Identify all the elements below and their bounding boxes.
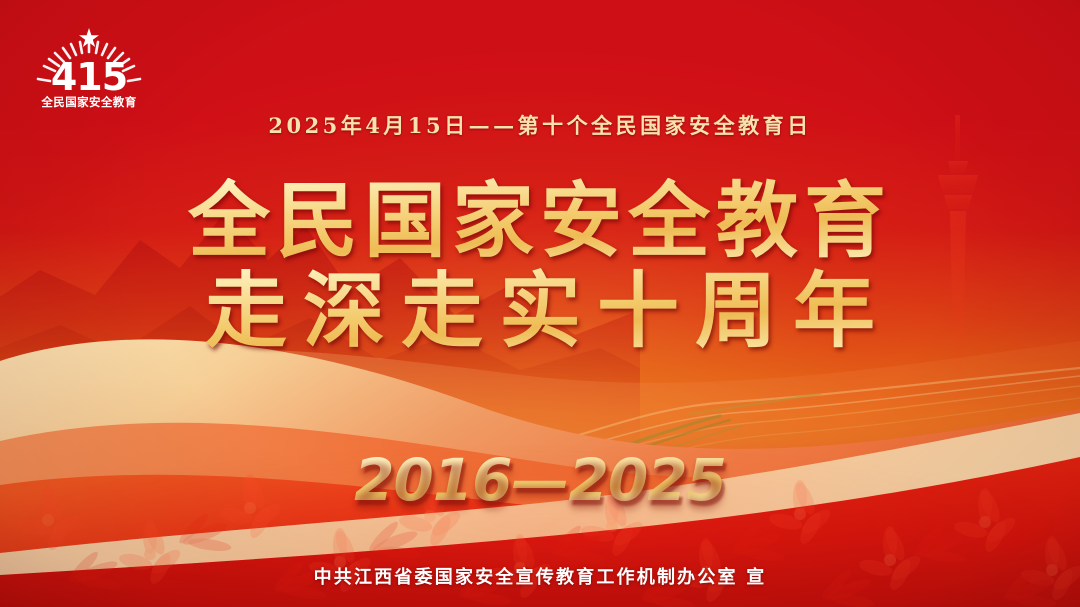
main-title-line-2: 走深走实十周年 [0, 268, 1080, 356]
main-title: 全民国家安全教育 走深走实十周年 [0, 178, 1080, 355]
year-range-text: 2016—2025 [354, 446, 726, 514]
national-security-education-day-415-logo[interactable]: 415 全民国家安全教育 [24, 22, 154, 110]
logo-numerals-415: 415 [51, 55, 127, 99]
year-range-block: 2016—2025 [0, 446, 1080, 514]
main-title-line-1: 全民国家安全教育 [0, 178, 1080, 266]
issuing-authority-footer: 中共江西省委国家安全宣传教育工作机制办公室 宣 [0, 563, 1080, 589]
svg-text:全民国家安全教育: 全民国家安全教育 [40, 95, 136, 109]
poster-canvas: 415 全民国家安全教育 2025年4月15日——第十个全民国家安全教育日 全民… [0, 0, 1080, 607]
logo-caption: 全民国家安全教育 [40, 95, 136, 109]
event-subtitle: 2025年4月15日——第十个全民国家安全教育日 [0, 110, 1080, 140]
svg-text:415: 415 [51, 55, 127, 99]
